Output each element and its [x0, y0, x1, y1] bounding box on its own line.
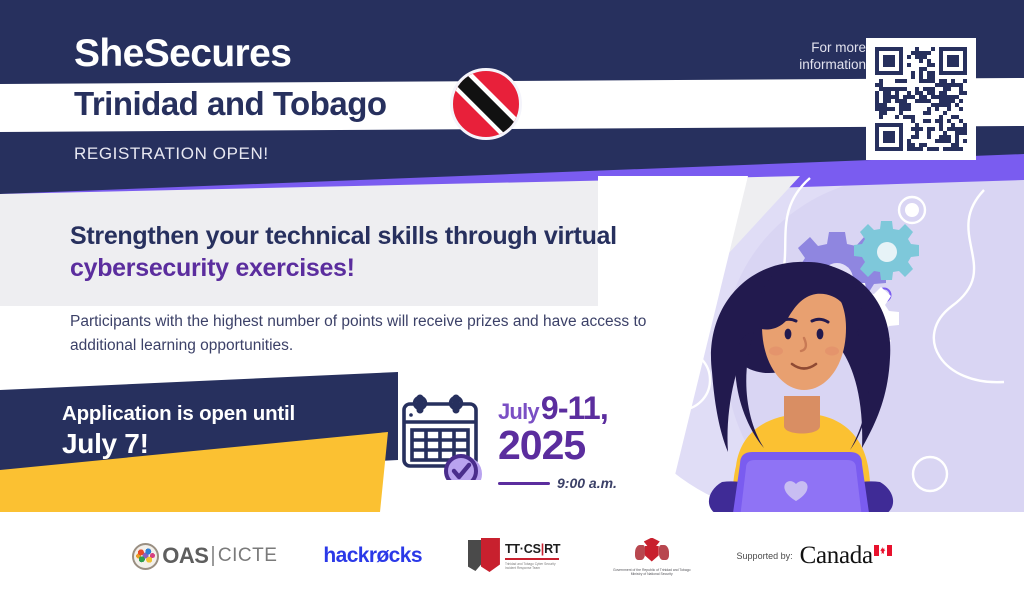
ministry-line2: Ministry of National Security [631, 572, 673, 576]
flag-black-stripe [450, 68, 522, 140]
oas-divider [212, 546, 214, 566]
event-days: 9-11, [541, 390, 608, 426]
qr-code[interactable] [866, 38, 976, 160]
coat-supporter-right [659, 545, 669, 560]
event-year: 2025 [498, 425, 658, 466]
csirt-shield-icon [468, 538, 500, 574]
hackrocks-logo: hackrøcks [323, 544, 422, 568]
gear-small-teal [854, 221, 919, 280]
maple-leaf [880, 547, 886, 554]
application-deadline-line2: July 7! [62, 428, 392, 460]
calendar-check-icon [398, 392, 490, 480]
shield-left [468, 540, 483, 571]
csirt-wordmark: TT·CS|RT [505, 542, 567, 556]
time-rule [498, 482, 550, 485]
application-deadline: Application is open until July 7! [62, 402, 392, 460]
flag-band-right [887, 545, 892, 556]
qr-caption-line1: For more [770, 40, 866, 57]
canada-wordmark-text: Canada [800, 542, 873, 569]
csirt-wordmark-a: TT·CS [505, 542, 541, 556]
supported-by-label: Supported by: [737, 551, 793, 561]
canada-logo: Supported by: Canada [737, 542, 892, 570]
trinidad-and-tobago-flag-icon [450, 68, 522, 140]
registration-status: REGISTRATION OPEN! [74, 144, 594, 164]
event-time: 9:00 a.m. [557, 475, 617, 491]
csirt-rule [505, 558, 559, 560]
tt-csirt-logo: TT·CS|RT Trinidad and Tobago Cyber Secur… [468, 538, 567, 574]
coat-of-arms-icon [634, 537, 670, 567]
csirt-wordmark-b: RT [544, 542, 560, 556]
event-time-row: 9:00 a.m. [498, 475, 658, 491]
oas-cicte-logo: OAS CICTE [132, 543, 277, 570]
body-copy: Participants with the highest number of … [70, 310, 680, 357]
event-date: July9-11, 2025 9:00 a.m. [498, 392, 658, 491]
csirt-text: TT·CS|RT Trinidad and Tobago Cyber Secur… [505, 542, 567, 570]
cicte-label: CICTE [218, 545, 278, 567]
ministry-of-national-security-logo: Government of the Republic of Trinidad a… [613, 537, 691, 576]
coat-shield [645, 546, 659, 562]
oas-label: OAS [162, 543, 208, 569]
coat-supporter-left [635, 545, 645, 560]
headline-primary: Strengthen your technical skills through… [70, 222, 617, 250]
main-headline: Strengthen your technical skills through… [70, 220, 670, 284]
footer-logos: OAS CICTE hackrøcks TT·CS|RT Trinidad an… [0, 528, 1024, 584]
shield-right [481, 538, 500, 572]
canada-flag-icon [874, 545, 892, 556]
ministry-text: Government of the Republic of Trinidad a… [613, 568, 691, 576]
qr-scan-here-label: SCAN HERE [770, 79, 866, 95]
qr-caption: For more information SCAN HERE [770, 40, 866, 95]
event-month: July [498, 399, 539, 424]
event-date-line1: July9-11, [498, 392, 658, 424]
flag-band-left [874, 545, 879, 556]
qr-code-matrix [875, 47, 967, 151]
qr-caption-line2: information [770, 57, 866, 74]
canada-wordmark: Canada [800, 542, 892, 570]
page-title: SheSecures [74, 34, 594, 74]
oas-seal-icon [132, 543, 159, 570]
application-deadline-line1: Application is open until [62, 402, 392, 426]
poster-canvas: SheSecures Trinidad and Tobago REGISTRAT… [0, 0, 1024, 589]
hackrocks-label: hackrøcks [323, 544, 422, 568]
csirt-subtitle: Trinidad and Tobago Cyber Security Incid… [505, 562, 567, 570]
coat-bird [644, 538, 660, 547]
headline-accent: cybersecurity exercises! [70, 254, 355, 282]
